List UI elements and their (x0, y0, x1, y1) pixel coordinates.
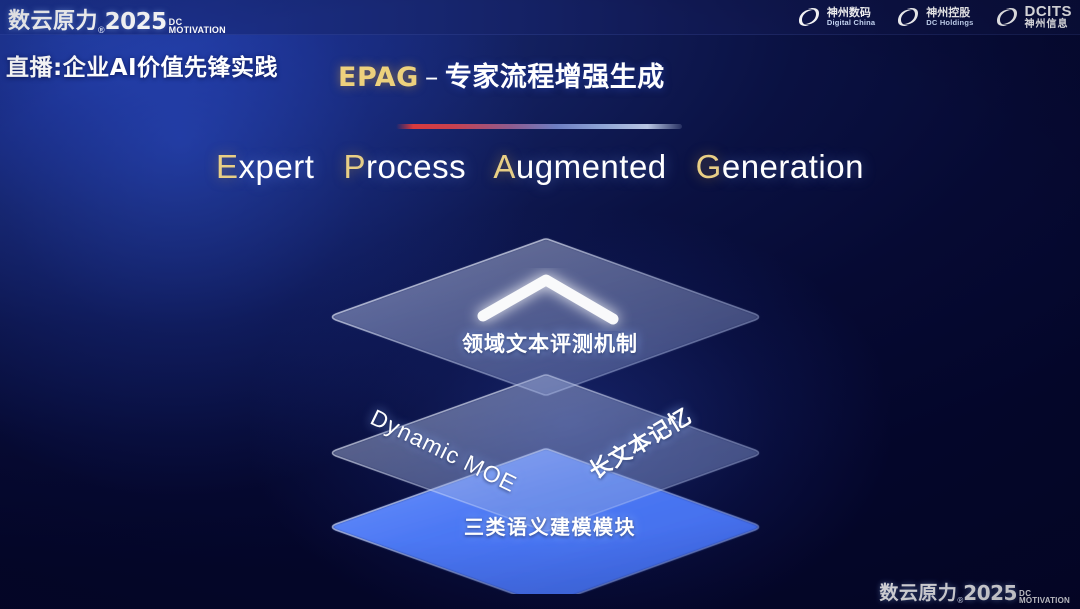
subtitle-cap: G (696, 148, 722, 185)
slide-canvas: 数云原力 ® 2025 DC MOTIVATION 神州数码 Digital C… (0, 0, 1080, 609)
brand-logo-header: 数云原力 ® 2025 DC MOTIVATION (8, 3, 226, 35)
subtitle-word-expert: Expert (216, 148, 314, 185)
watermark-year: 2025 (963, 581, 1017, 605)
subtitle-expansion: Expert Process Augmented Generation (0, 148, 1080, 186)
title-acronym: EPAG (338, 62, 419, 93)
subtitle-word-generation: Generation (696, 148, 864, 185)
subtitle-word-augmented: Augmented (493, 148, 666, 185)
subtitle-rest: rocess (366, 148, 466, 185)
page-title: EPAG–专家流程增强生成 (338, 55, 665, 94)
swirl-logo-icon (994, 6, 1020, 28)
corp-logo-dcits: DCITS 神州信息 (994, 4, 1073, 30)
gradient-divider (396, 124, 682, 129)
corporate-logo-group: 神州数码 Digital China 神州控股 DC Holdings DCIT… (796, 4, 1072, 30)
subtitle-space (324, 148, 334, 185)
title-chinese: 专家流程增强生成 (445, 62, 665, 93)
subtitle-rest: ugmented (516, 148, 667, 185)
corp-logo-digital-china: 神州数码 Digital China (796, 6, 875, 28)
subtitle-rest: xpert (239, 148, 315, 185)
swirl-logo-icon (895, 6, 921, 28)
corp-logo-text: 神州控股 DC Holdings (926, 7, 973, 26)
subtitle-cap: E (216, 148, 239, 185)
subtitle-cap: A (493, 148, 516, 185)
corp-logo-dc-holdings: 神州控股 DC Holdings (895, 6, 973, 28)
subtitle-space (676, 148, 686, 185)
swirl-logo-icon (796, 6, 822, 28)
brand-logo-motivation: MOTIVATION (169, 26, 226, 35)
corp-logo-cn: 神州信息 (1025, 20, 1073, 31)
live-banner-text: 直播:企业AI价值先锋实践 (6, 48, 278, 82)
brand-logo-registered: ® (98, 25, 105, 35)
corp-logo-en: DCITS (1025, 4, 1073, 20)
corp-logo-en: Digital China (827, 19, 875, 27)
stacked-layers-diagram: 领域文本评测机制 Dynamic MOE 长文本记忆 三类语义建模模块 (300, 224, 800, 594)
corp-logo-text: DCITS 神州信息 (1025, 4, 1073, 30)
layer-plate-top (333, 239, 759, 395)
watermark-cn: 数云原力 (879, 578, 957, 605)
brand-logo-year: 2025 (105, 9, 167, 35)
subtitle-cap: P (343, 148, 366, 185)
title-dash: – (425, 62, 439, 93)
layers-svg (300, 224, 800, 594)
watermark-dc-motivation: DC MOTIVATION (1019, 590, 1070, 605)
brand-logo-cn: 数云原力 (8, 3, 98, 35)
watermark-motivation: MOTIVATION (1019, 597, 1070, 605)
corp-logo-text: 神州数码 Digital China (827, 7, 875, 26)
corp-logo-en: DC Holdings (926, 19, 973, 27)
subtitle-word-process: Process (343, 148, 466, 185)
brand-watermark: 数云原力 ® 2025 DC MOTIVATION (879, 578, 1070, 605)
subtitle-rest: eneration (722, 148, 864, 185)
brand-logo-dc-motivation: DC MOTIVATION (169, 18, 226, 35)
subtitle-space (476, 148, 486, 185)
